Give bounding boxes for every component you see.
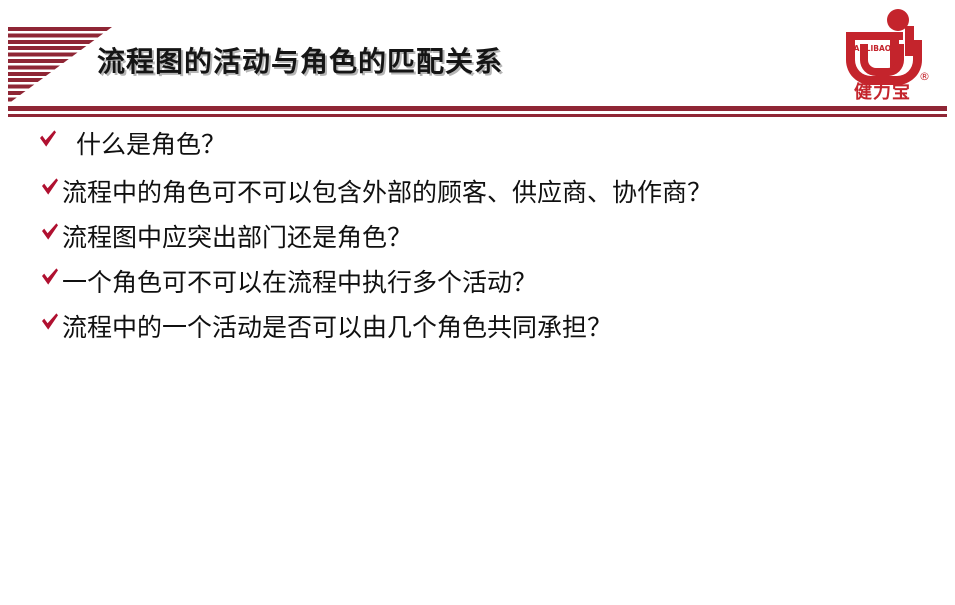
- list-item: 一个角色可不可以在流程中执行多个活动？: [0, 268, 955, 313]
- registered-mark-icon: ®: [919, 70, 930, 83]
- check-mark-icon: [40, 266, 60, 288]
- page-title: 流程图的活动与角色的匹配关系: [97, 44, 503, 80]
- list-item: 什么是角色？: [0, 130, 955, 178]
- list-item-label: 一个角色可不可以在流程中执行多个活动？: [60, 268, 537, 298]
- list-item-label: 流程中的一个活动是否可以由几个角色共同承担？: [60, 313, 612, 343]
- list-item-label: 什么是角色？: [58, 130, 226, 160]
- slide-header: 流程图的活动与角色的匹配关系 JIANLIBAO ®: [0, 0, 955, 122]
- slide-body: 什么是角色？ 流程中的角色可不可以包含外部的顾客、供应商、协作商？ 流程图中应突…: [0, 122, 955, 605]
- list-item: 流程中的一个活动是否可以由几个角色共同承担？: [0, 313, 955, 358]
- list-item: 流程中的角色可不可以包含外部的顾客、供应商、协作商？: [0, 178, 955, 223]
- header-rule-thick: [8, 106, 947, 111]
- check-mark-icon: [38, 128, 58, 150]
- check-mark-icon: [40, 176, 60, 198]
- body-top-spacer: [0, 122, 955, 130]
- list-item-label: 流程中的角色可不可以包含外部的顾客、供应商、协作商？: [60, 178, 712, 208]
- check-mark-icon: [40, 311, 60, 333]
- list-item-label: 流程图中应突出部门还是角色？: [60, 223, 412, 253]
- logo-latin-text: JIANLIBAO: [847, 44, 891, 53]
- list-item: 流程图中应突出部门还是角色？: [0, 223, 955, 268]
- check-mark-icon: [40, 221, 60, 243]
- slide-canvas: 流程图的活动与角色的匹配关系 JIANLIBAO ®: [0, 0, 955, 605]
- jianlibao-logo-icon: JIANLIBAO ® 健力宝: [826, 8, 938, 100]
- header-rule-thin: [8, 114, 947, 117]
- logo-chinese-wordmark: 健力宝: [854, 81, 911, 100]
